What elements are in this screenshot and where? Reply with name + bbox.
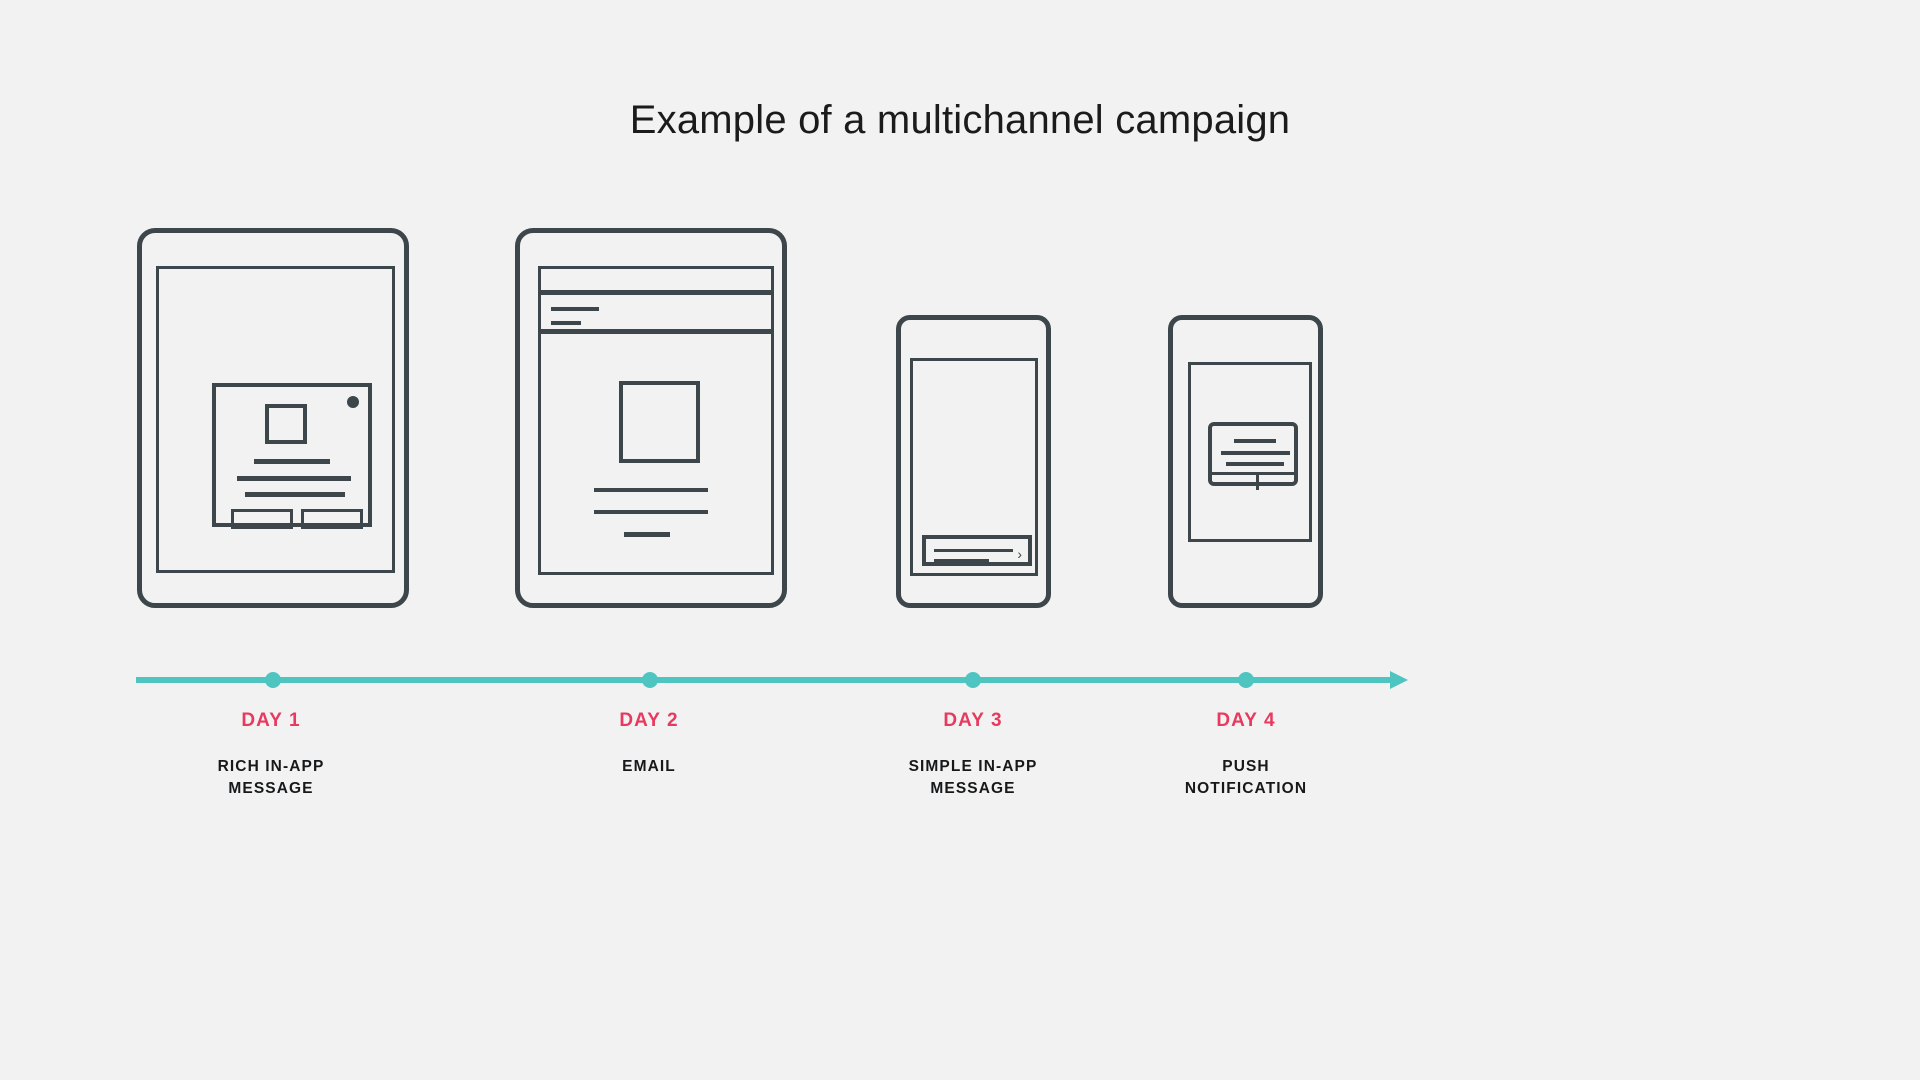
step-label-day-2: DAY 2 EMAIL [499,710,799,778]
day-label: DAY 4 [1096,710,1396,732]
email-image-placeholder [619,381,700,463]
day-label: DAY 1 [121,710,421,732]
email-toolbar [538,266,774,293]
timeline-arrow-icon [1390,671,1408,689]
device-3-screen: › [910,358,1038,576]
device-frame-day-3: › [896,315,1051,608]
channel-label: EMAIL [499,756,799,778]
rich-card-image-placeholder [265,404,307,444]
channel-label: SIMPLE IN-APP MESSAGE [823,756,1123,800]
email-body-text-line [624,532,670,537]
email-body-text-line [594,488,708,492]
day-label: DAY 3 [823,710,1123,732]
device-frame-day-1 [137,228,409,608]
rich-card-text-line [237,476,351,481]
push-card-divider [1212,472,1294,475]
simple-in-app-banner[interactable]: › [922,535,1032,566]
email-sender-line [551,321,581,325]
channel-label: PUSH NOTIFICATION [1096,756,1396,800]
rich-in-app-message-card [212,383,372,527]
channel-label: RICH IN-APP MESSAGE [121,756,421,800]
device-4-screen [1188,362,1312,542]
close-dot-icon[interactable] [347,396,359,408]
email-header [538,292,774,332]
push-card-text-line [1234,439,1276,443]
timeline-dot-day-3[interactable] [965,672,981,688]
timeline [136,668,1408,692]
push-card-text-line [1226,462,1284,466]
timeline-dot-day-1[interactable] [265,672,281,688]
rich-card-button-primary[interactable] [231,509,293,529]
step-label-day-1: DAY 1 RICH IN-APP MESSAGE [121,710,421,800]
simple-banner-text-line [934,549,1013,552]
page-title: Example of a multichannel campaign [0,98,1920,143]
rich-card-text-line [254,459,330,464]
rich-card-text-line [245,492,345,497]
device-frame-day-2 [515,228,787,608]
timeline-dot-day-4[interactable] [1238,672,1254,688]
rich-card-button-secondary[interactable] [301,509,363,529]
push-card-action-separator [1256,472,1259,490]
email-body-text-line [594,510,708,514]
timeline-track [136,677,1394,683]
timeline-dot-day-2[interactable] [642,672,658,688]
push-notification-card[interactable] [1208,422,1298,486]
chevron-right-icon[interactable]: › [1017,547,1022,561]
email-subject-line [551,307,599,311]
step-label-day-4: DAY 4 PUSH NOTIFICATION [1096,710,1396,800]
device-1-screen [156,266,395,573]
simple-banner-text-line [934,559,989,562]
push-card-text-line [1221,451,1290,455]
diagram-canvas: Example of a multichannel campaign [0,0,1920,1080]
day-label: DAY 2 [499,710,799,732]
device-frame-day-4 [1168,315,1323,608]
step-label-day-3: DAY 3 SIMPLE IN-APP MESSAGE [823,710,1123,800]
email-body [538,331,774,575]
